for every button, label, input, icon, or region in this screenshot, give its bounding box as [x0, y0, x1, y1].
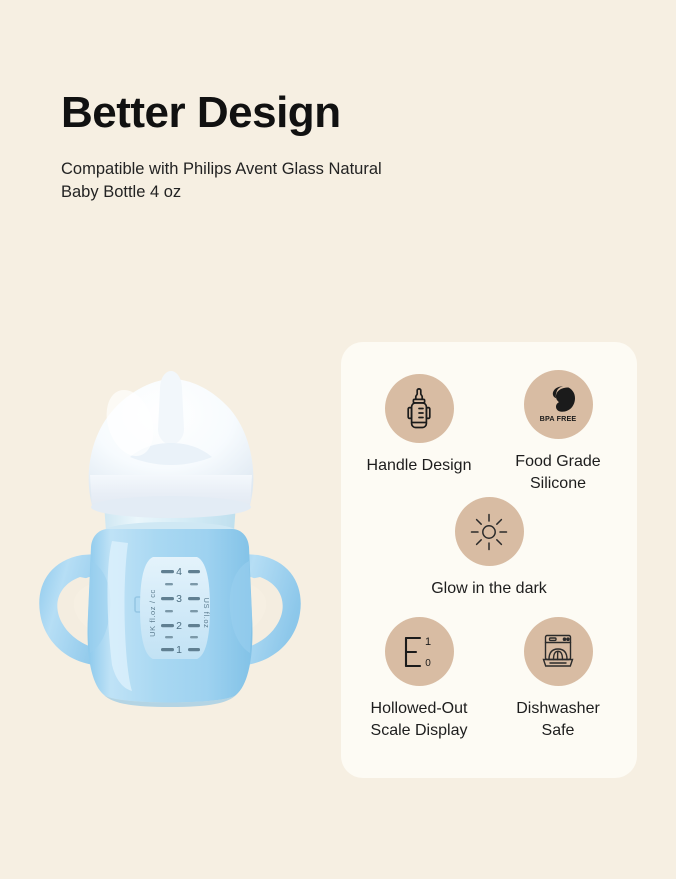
- measuring-scale-icon: 1 0: [385, 617, 454, 686]
- bpa-free-badge-text: BPA FREE: [540, 414, 577, 423]
- bpa-free-leaf-icon: BPA FREE: [524, 370, 593, 439]
- baby-bottle-illustration: UK fl.oz / cc US fl.oz: [20, 365, 320, 715]
- svg-text:3: 3: [176, 593, 182, 605]
- feature-label: Handle Design: [367, 455, 472, 477]
- bottle-measurement-window: UK fl.oz / cc US fl.oz: [140, 557, 211, 659]
- feature-label: Dishwasher Safe: [516, 698, 600, 742]
- feature-label: Hollowed-Out Scale Display: [371, 698, 468, 742]
- bottle-teat-dome: [89, 371, 254, 518]
- scale-mark-0: 0: [425, 658, 431, 669]
- dishwasher-icon: [524, 617, 593, 686]
- svg-text:1: 1: [176, 644, 182, 656]
- feature-label: Glow in the dark: [431, 578, 547, 600]
- baby-bottle-icon: [385, 374, 454, 443]
- feature-hollowed-out-scale[interactable]: 1 0 Hollowed-Out Scale Display: [354, 617, 484, 742]
- svg-text:4: 4: [176, 566, 182, 578]
- feature-handle-design[interactable]: Handle Design: [354, 374, 484, 477]
- scale-label-uk: UK fl.oz / cc: [148, 589, 157, 637]
- feature-glow-in-the-dark[interactable]: Glow in the dark: [424, 497, 554, 600]
- svg-text:2: 2: [176, 620, 182, 632]
- sun-glow-icon: [455, 497, 524, 566]
- page-title: Better Design: [61, 90, 341, 136]
- features-panel: Handle Design BPA FREE Food Grade Silico…: [341, 342, 637, 778]
- feature-food-grade-silicone[interactable]: BPA FREE Food Grade Silicone: [493, 370, 623, 495]
- product-photo: UK fl.oz / cc US fl.oz: [20, 365, 320, 715]
- page-subtitle: Compatible with Philips Avent Glass Natu…: [61, 158, 391, 205]
- feature-label: Food Grade Silicone: [515, 451, 600, 495]
- feature-dishwasher-safe[interactable]: Dishwasher Safe: [493, 617, 623, 742]
- scale-mark-1: 1: [425, 636, 431, 648]
- scale-label-us: US fl.oz: [202, 597, 211, 628]
- product-feature-page: Better Design Compatible with Philips Av…: [0, 0, 676, 879]
